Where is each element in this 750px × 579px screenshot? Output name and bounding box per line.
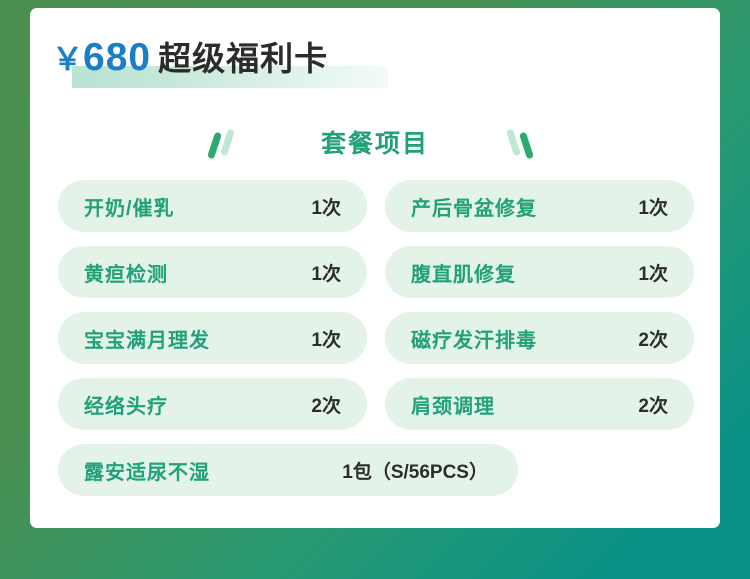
benefit-list: 开奶/催乳 1次 产后骨盆修复 1次 黄疸检测 1次 腹直肌修复 1次 [58,180,694,510]
benefit-count: 1次 [311,193,341,220]
page-title: ￥680超级福利卡 [52,30,328,88]
benefit-item[interactable]: 开奶/催乳 1次 [58,180,367,232]
benefit-row: 开奶/催乳 1次 产后骨盆修复 1次 [58,180,694,232]
benefit-label: 宝宝满月理发 [84,324,210,353]
benefit-count: 1次 [638,193,668,220]
benefit-item[interactable]: 产后骨盆修复 1次 [385,180,694,232]
benefit-count: 2次 [638,391,668,418]
benefit-item[interactable]: 黄疸检测 1次 [58,246,367,298]
benefit-item[interactable]: 宝宝满月理发 1次 [58,312,367,364]
benefit-item[interactable]: 磁疗发汗排毒 2次 [385,312,694,364]
benefit-label: 开奶/催乳 [84,192,175,221]
benefit-label: 黄疸检测 [84,258,168,287]
benefit-row: 经络头疗 2次 肩颈调理 2次 [58,378,694,430]
benefit-row: 黄疸检测 1次 腹直肌修复 1次 [58,246,694,298]
benefit-item[interactable]: 肩颈调理 2次 [385,378,694,430]
benefit-count: 1次 [638,259,668,286]
benefit-label: 产后骨盆修复 [411,192,537,221]
benefit-card: ￥680超级福利卡 套餐项目 开奶/催乳 1次 产后骨盆修复 1次 [30,8,720,528]
benefit-count: 2次 [638,325,668,352]
benefit-label: 肩颈调理 [411,390,495,419]
benefit-label: 露安适尿不湿 [84,456,210,485]
double-slash-left-icon [209,129,243,159]
price-value: 680 [83,36,151,79]
benefit-count: 1包（S/56PCS） [342,457,488,484]
benefit-row: 宝宝满月理发 1次 磁疗发汗排毒 2次 [58,312,694,364]
card-name: 超级福利卡 [158,40,328,77]
benefit-count: 2次 [311,391,341,418]
benefit-label: 磁疗发汗排毒 [411,324,537,353]
double-slash-right-icon [507,129,541,159]
benefit-item[interactable]: 露安适尿不湿 1包（S/56PCS） [58,444,518,496]
benefit-item[interactable]: 腹直肌修复 1次 [385,246,694,298]
benefit-item[interactable]: 经络头疗 2次 [58,378,367,430]
benefit-count: 1次 [311,259,341,286]
benefit-label: 经络头疗 [84,390,168,419]
card-title-block: ￥680超级福利卡 [52,30,328,86]
section-heading: 套餐项目 [321,118,429,170]
promo-card-page: ￥680超级福利卡 套餐项目 开奶/催乳 1次 产后骨盆修复 1次 [0,0,750,579]
benefit-row: 露安适尿不湿 1包（S/56PCS） [58,444,694,496]
section-header: 套餐项目 [30,118,720,170]
benefit-count: 1次 [311,325,341,352]
benefit-label: 腹直肌修复 [411,258,516,287]
currency-symbol: ￥ [52,42,83,77]
